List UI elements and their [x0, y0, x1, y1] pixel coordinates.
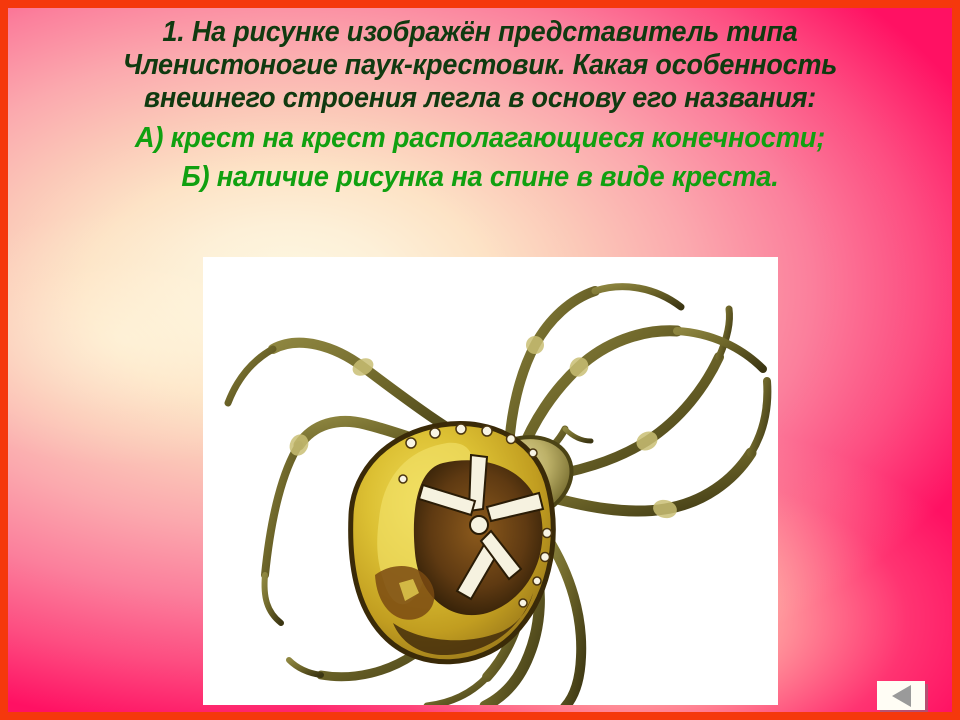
spider-illustration-panel: [203, 257, 778, 705]
question-text: 1. На рисунке изображён представитель ти…: [34, 0, 927, 115]
answer-option-b[interactable]: Б) наличие рисунка на спине в виде крест…: [51, 160, 908, 194]
cross-spider-icon: [203, 257, 778, 705]
back-nav-button[interactable]: [877, 681, 925, 710]
triangle-left-icon: [892, 685, 911, 707]
quiz-slide: 1. На рисунке изображён представитель ти…: [0, 0, 960, 720]
answer-options-list: А) крест на крест располагающиеся конечн…: [0, 115, 960, 194]
slide-text-block: 1. На рисунке изображён представитель ти…: [0, 0, 960, 194]
answer-option-a[interactable]: А) крест на крест располагающиеся конечн…: [51, 121, 908, 155]
